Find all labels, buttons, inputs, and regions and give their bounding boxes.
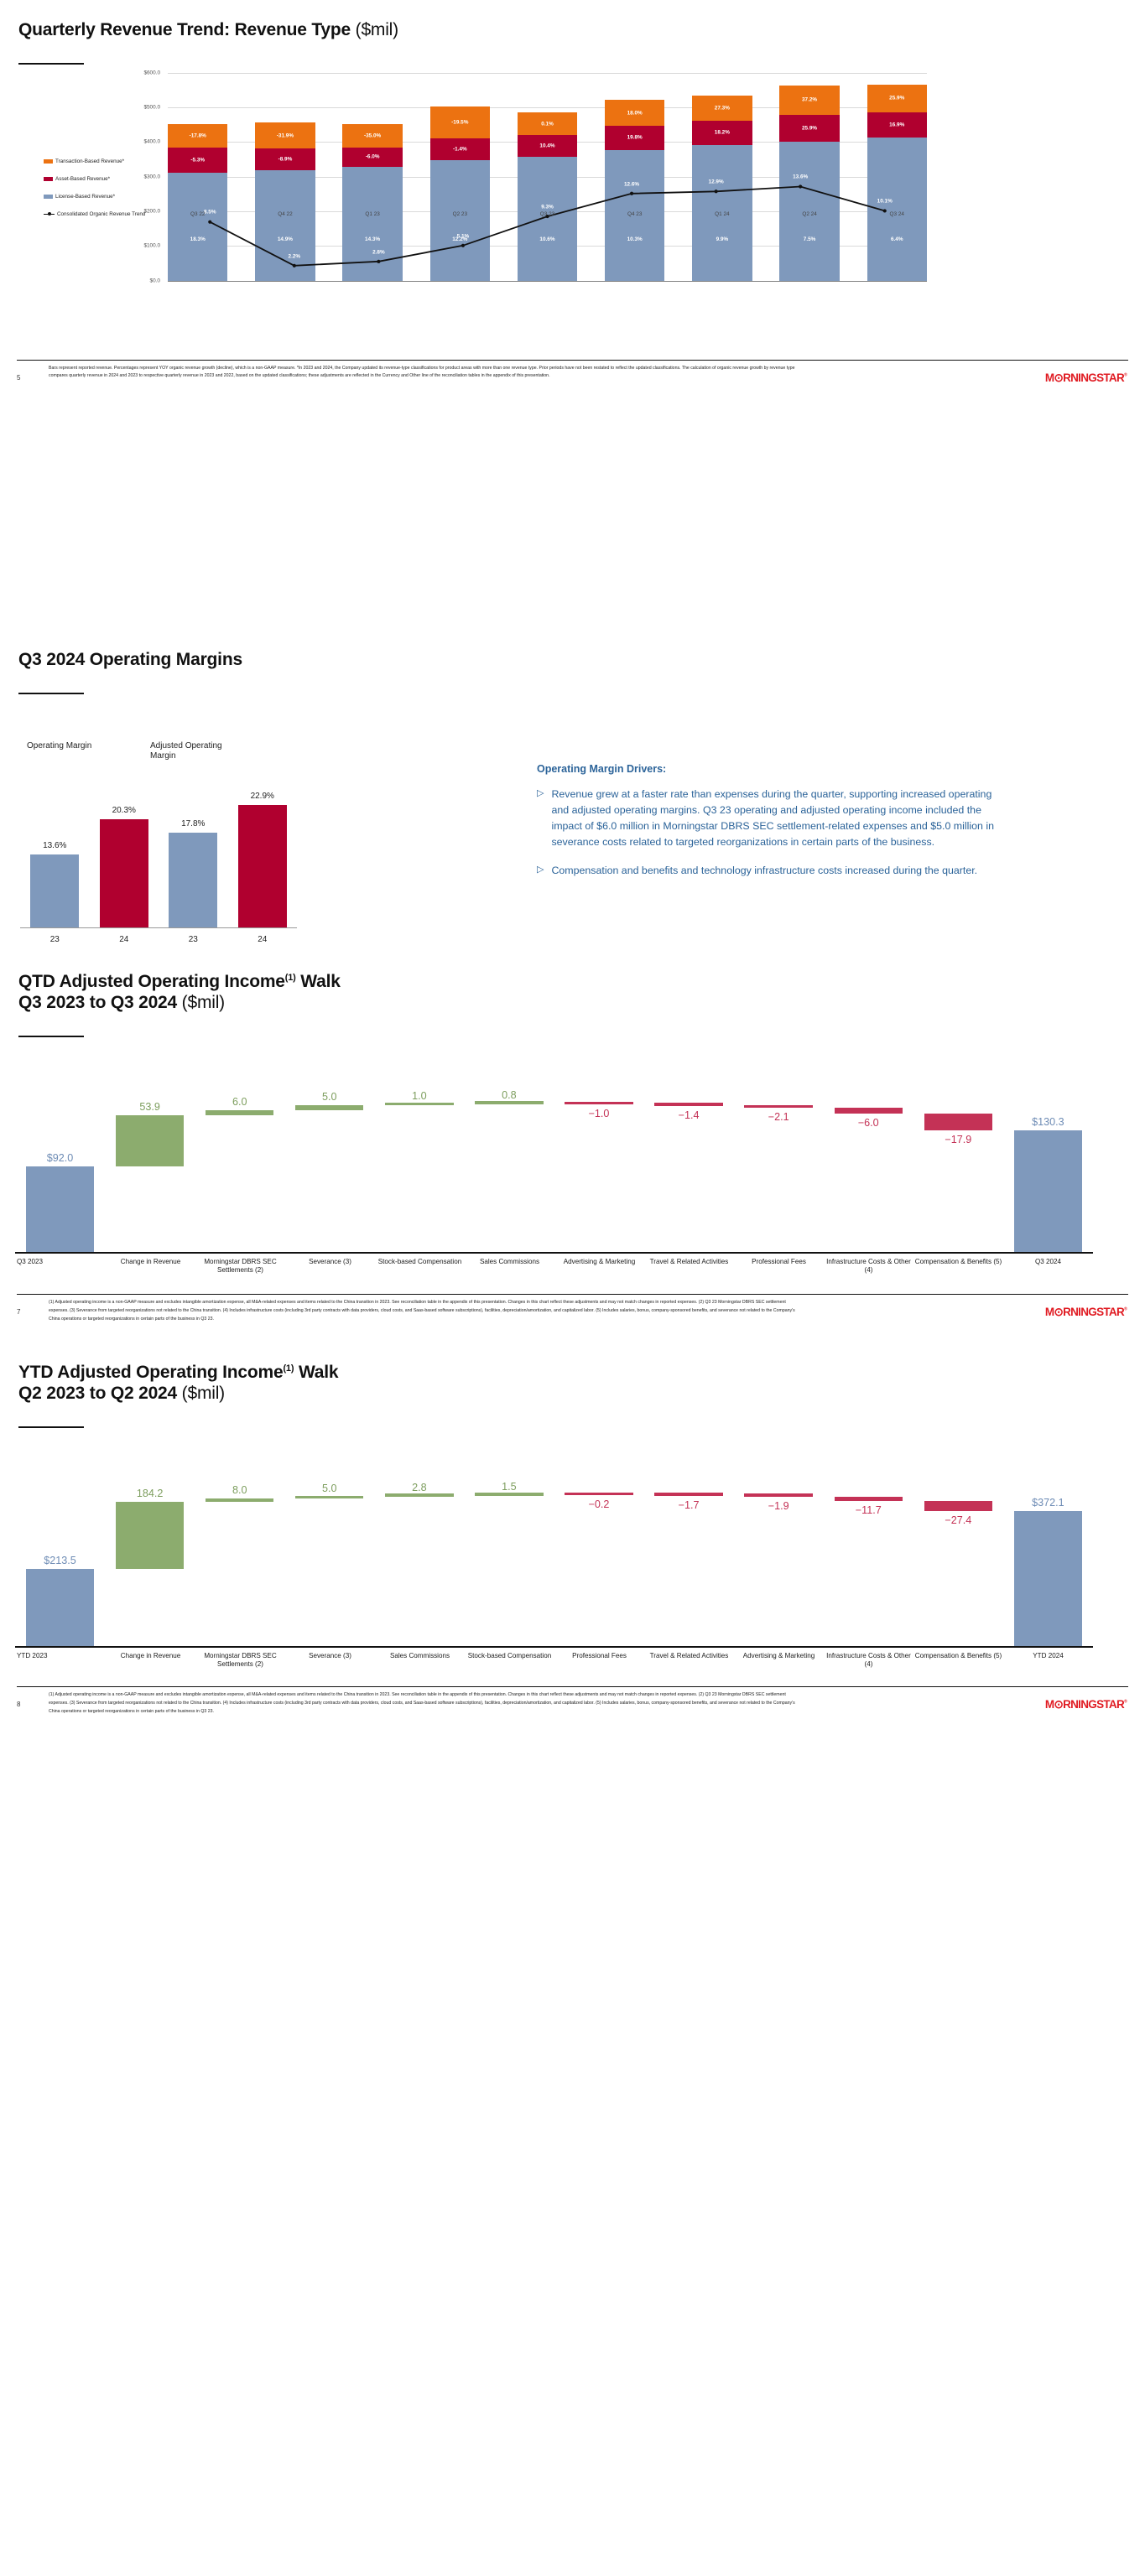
page-title-line1: YTD Adjusted Operating Income — [18, 1363, 283, 1382]
x-tick-label: Professional Fees — [554, 1652, 644, 1670]
waterfall-column: −6.0 — [824, 1059, 913, 1254]
waterfall-bar-value: $372.1 — [987, 1497, 1110, 1509]
x-tick-label: Infrastructure Costs & Other (4) — [824, 1258, 913, 1276]
chart-baseline — [15, 1646, 1093, 1647]
slide-footer: 7 (1) Adjusted operating income is a non… — [17, 1294, 1128, 1334]
margin-bars: 13.6%20.3%17.8%22.9% — [20, 789, 297, 927]
waterfall-bar-value: 1.5 — [448, 1481, 570, 1493]
waterfall-bar-value: −27.4 — [898, 1514, 1020, 1526]
waterfall-bar-value: $92.0 — [0, 1152, 121, 1164]
waterfall-bar — [475, 1493, 543, 1496]
waterfall-column: −2.1 — [734, 1059, 824, 1254]
waterfall-bar — [654, 1493, 722, 1496]
page-title-line1: QTD Adjusted Operating Income — [18, 972, 285, 991]
group-label-operating-margin: Operating Margin — [27, 741, 144, 752]
driver-text: Revenue grew at a faster rate than expen… — [551, 787, 1007, 851]
waterfall-column: 1.0 — [374, 1059, 464, 1254]
x-tick-label: Travel & Related Activities — [644, 1652, 734, 1670]
waterfall-bar — [1014, 1130, 1082, 1254]
x-axis-labels: YTD 2023Change in RevenueMorningstar DBR… — [15, 1652, 1093, 1670]
page-title-bold: Quarterly Revenue Trend: Revenue Type — [18, 20, 351, 39]
x-tick-label: Change in Revenue — [106, 1258, 195, 1276]
waterfall-bar — [385, 1103, 453, 1106]
waterfall-column: −11.7 — [824, 1450, 913, 1648]
driver-bullet: ▷ Revenue grew at a faster rate than exp… — [537, 787, 1007, 851]
waterfall-bar — [924, 1114, 992, 1130]
slide-footer: 5 Bars represent reported revenue. Perce… — [17, 360, 1128, 400]
margin-bar: 22.9% — [238, 805, 287, 927]
waterfall-bar — [116, 1115, 184, 1166]
margin-bar-value: 17.8% — [169, 819, 217, 828]
y-tick: $600.0 — [143, 70, 160, 75]
x-axis-labels: 23242324 — [20, 935, 297, 944]
waterfall-bar — [26, 1166, 94, 1253]
x-tick-label: 23 — [159, 935, 228, 944]
x-axis-labels: Q3 22Q4 22Q1 23Q2 23Q3 23Q4 23Q1 24Q2 24… — [168, 211, 927, 217]
trend-point-label: 13.6% — [793, 174, 808, 180]
slide-footer: 8 (1) Adjusted operating income is a non… — [17, 1686, 1128, 1727]
trend-point — [715, 190, 718, 193]
legend-swatch-license — [44, 195, 53, 199]
x-tick-label: Q2 23 — [430, 211, 490, 217]
waterfall-bar — [295, 1496, 363, 1499]
waterfall-bar — [295, 1105, 363, 1110]
footnote-text: (1) Adjusted operating income is a non-G… — [49, 1299, 804, 1323]
waterfall-bar — [835, 1497, 903, 1501]
x-tick-label: Morningstar DBRS SEC Settlements (2) — [195, 1258, 285, 1276]
page-number: 5 — [17, 374, 20, 382]
slide-quarterly-revenue-trend: Quarterly Revenue Trend: Revenue Type ($… — [0, 0, 1145, 635]
driver-text: Compensation and benefits and technology… — [551, 863, 977, 879]
x-tick-label: Infrastructure Costs & Other (4) — [824, 1652, 913, 1670]
waterfall-column: −1.4 — [644, 1059, 734, 1254]
title-rule — [18, 63, 84, 65]
chart-baseline — [20, 927, 297, 928]
waterfall-column: −1.0 — [554, 1059, 643, 1254]
trend-polyline — [210, 186, 884, 265]
margin-bar-value: 22.9% — [238, 792, 287, 801]
axis-baseline — [168, 281, 927, 282]
plot-area: $600.0 $500.0 $400.0 $300.0 $200.0 $100.… — [168, 73, 927, 281]
x-tick-label: Q4 22 — [255, 211, 315, 217]
page-title-line2-light: ($mil) — [182, 1384, 225, 1403]
waterfall-bar — [835, 1108, 903, 1114]
page-title-superscript: (1) — [285, 973, 296, 983]
waterfall-bar — [744, 1493, 812, 1497]
page-title-line1-end: Walk — [294, 1363, 338, 1382]
operating-margin-chart: Operating Margin Adjusted Operating Marg… — [20, 745, 297, 946]
trend-point-label: 12.9% — [709, 179, 724, 185]
page-number: 7 — [17, 1308, 20, 1316]
margin-bar-slot: 20.3% — [90, 789, 159, 927]
waterfall-bar — [744, 1105, 812, 1109]
trend-point — [461, 243, 465, 247]
page-title: Q3 2024 Operating Margins — [0, 650, 1145, 671]
waterfall-bar-value: 0.8 — [448, 1089, 570, 1101]
x-tick-label: Sales Commissions — [375, 1652, 465, 1670]
operating-margin-drivers: Operating Margin Drivers: ▷ Revenue grew… — [537, 763, 1007, 891]
x-axis-labels: Q3 2023Change in RevenueMorningstar DBRS… — [15, 1258, 1093, 1276]
triangle-bullet-icon: ▷ — [537, 787, 544, 851]
margin-bar-slot: 17.8% — [159, 789, 228, 927]
operating-margins-body: Operating Margin Adjusted Operating Marg… — [0, 713, 1145, 964]
waterfall-bar — [26, 1569, 94, 1647]
margin-bar-value: 13.6% — [30, 841, 79, 850]
y-tick: $500.0 — [143, 105, 160, 111]
waterfall-column: 1.5 — [464, 1450, 554, 1648]
waterfall-column: $213.5 — [15, 1450, 105, 1648]
x-tick-label: Q1 24 — [692, 211, 752, 217]
x-tick-label: Compensation & Benefits (5) — [913, 1258, 1003, 1276]
waterfall-column: −1.7 — [644, 1450, 734, 1648]
x-tick-label: 24 — [90, 935, 159, 944]
x-tick-label: 23 — [20, 935, 90, 944]
page-title-line2: Q3 2023 to Q3 2024 — [18, 993, 177, 1012]
title-rule — [18, 1036, 84, 1037]
page-title-bold: Q3 2024 Operating Margins — [18, 650, 242, 669]
group-label-adjusted-operating-margin: Adjusted Operating Margin — [150, 741, 231, 762]
waterfall-bar — [654, 1103, 722, 1106]
qtd-waterfall-chart: $92.053.96.05.01.00.8−1.0−1.4−2.1−6.0−17… — [0, 1059, 1145, 1276]
trend-point-label: 2.2% — [289, 253, 301, 259]
waterfall-bar — [565, 1493, 632, 1496]
waterfall-column: −17.9 — [913, 1059, 1003, 1254]
waterfall-column: −1.9 — [734, 1450, 824, 1648]
waterfall-bar-value: −17.9 — [898, 1134, 1020, 1145]
chart-baseline — [15, 1252, 1093, 1253]
ytd-waterfall-chart: $213.5184.28.05.02.81.5−0.2−1.7−1.9−11.7… — [0, 1450, 1145, 1670]
x-tick-label: Morningstar DBRS SEC Settlements (2) — [195, 1652, 285, 1670]
x-tick-label: Severance (3) — [285, 1652, 375, 1670]
page-title-superscript: (1) — [283, 1363, 294, 1374]
slide-operating-margins: Q3 2024 Operating Margins Operating Marg… — [0, 635, 1145, 955]
footnote-text: Bars represent reported revenue. Percent… — [49, 365, 804, 381]
waterfall-bar — [116, 1502, 184, 1570]
x-tick-label: Advertising & Marketing — [734, 1652, 824, 1670]
x-tick-label: Q3 24 — [867, 211, 927, 217]
page-title-line2: Q2 2023 to Q2 2024 — [18, 1384, 177, 1403]
footnote-text: (1) Adjusted operating income is a non-G… — [49, 1691, 804, 1716]
y-tick: $0.0 — [150, 278, 160, 283]
y-tick: $400.0 — [143, 139, 160, 145]
waterfall-column: 2.8 — [374, 1450, 464, 1648]
waterfall-column: $372.1 — [1003, 1450, 1093, 1648]
y-axis: $600.0 $500.0 $400.0 $300.0 $200.0 $100.… — [130, 73, 165, 281]
legend-label-license: License-Based Revenue* — [55, 194, 115, 200]
y-tick: $300.0 — [143, 174, 160, 179]
x-tick-label: Change in Revenue — [106, 1652, 195, 1670]
waterfall-column: −27.4 — [913, 1450, 1003, 1648]
x-tick-label: Travel & Related Activities — [644, 1258, 734, 1276]
morningstar-logo: M⊙RNINGSTAR® — [1045, 371, 1127, 384]
margin-bar: 13.6% — [30, 854, 79, 927]
trend-point — [293, 263, 296, 267]
waterfall-column: 5.0 — [284, 1059, 374, 1254]
waterfall-bar — [385, 1493, 453, 1497]
trend-point — [630, 191, 633, 195]
x-tick-label: Q3 22 — [168, 211, 227, 217]
x-tick-label: 24 — [228, 935, 298, 944]
x-tick-label: Q3 2024 — [1003, 1258, 1093, 1276]
waterfall-column: −0.2 — [554, 1450, 643, 1648]
trend-point-label: 5.1% — [457, 233, 470, 239]
x-tick-label: Sales Commissions — [465, 1258, 554, 1276]
x-tick-label: Stock-based Compensation — [375, 1258, 465, 1276]
waterfall-plot: $92.053.96.05.01.00.8−1.0−1.4−2.1−6.0−17… — [15, 1059, 1093, 1254]
waterfall-bar-value: $130.3 — [987, 1116, 1110, 1128]
x-tick-label: Stock-based Compensation — [465, 1652, 554, 1670]
page-title-light: ($mil) — [356, 20, 398, 39]
page-number: 8 — [17, 1701, 20, 1708]
waterfall-columns: $92.053.96.05.01.00.8−1.0−1.4−2.1−6.0−17… — [15, 1059, 1093, 1254]
legend-label-transaction: Transaction-Based Revenue* — [55, 158, 124, 164]
waterfall-columns: $213.5184.28.05.02.81.5−0.2−1.7−1.9−11.7… — [15, 1450, 1093, 1648]
trend-point-label: 12.6% — [624, 181, 639, 187]
legend-swatch-transaction — [44, 159, 53, 164]
x-tick-label: Q4 23 — [605, 211, 664, 217]
trend-point — [377, 260, 380, 263]
title-rule — [18, 1426, 84, 1428]
y-tick: $100.0 — [143, 243, 160, 249]
revenue-trend-chart: Transaction-Based Revenue* Asset-Based R… — [0, 73, 1145, 325]
slide-qtd-operating-income-walk: QTD Adjusted Operating Income(1) Walk Q3… — [0, 955, 1145, 1346]
triangle-bullet-icon: ▷ — [537, 863, 544, 879]
x-tick-label: YTD 2023 — [15, 1652, 106, 1670]
x-tick-label: Q3 2023 — [15, 1258, 106, 1276]
waterfall-bar — [206, 1498, 273, 1502]
waterfall-plot: $213.5184.28.05.02.81.5−0.2−1.7−1.9−11.7… — [15, 1450, 1093, 1648]
waterfall-bar — [206, 1110, 273, 1116]
waterfall-bar — [565, 1102, 632, 1105]
trend-point-label: 9.3% — [541, 204, 554, 210]
morningstar-logo: M⊙RNINGSTAR® — [1045, 1305, 1127, 1318]
organic-revenue-trend-line — [168, 73, 927, 281]
waterfall-column: 0.8 — [464, 1059, 554, 1254]
waterfall-column: 5.0 — [284, 1450, 374, 1648]
page-title: YTD Adjusted Operating Income(1) Walk Q2… — [0, 1363, 1145, 1405]
drivers-heading: Operating Margin Drivers: — [537, 763, 1007, 775]
legend-swatch-asset — [44, 177, 53, 181]
morningstar-logo: M⊙RNINGSTAR® — [1045, 1697, 1127, 1711]
x-tick-label: Q2 24 — [779, 211, 839, 217]
x-tick-label: Q3 23 — [518, 211, 577, 217]
legend-swatch-line — [44, 211, 55, 217]
waterfall-bar-value: $213.5 — [0, 1555, 121, 1566]
trend-point — [799, 184, 802, 188]
margin-bar-value: 20.3% — [100, 806, 148, 815]
x-tick-label: Q1 23 — [342, 211, 402, 217]
waterfall-bar — [924, 1501, 992, 1511]
waterfall-bar — [1014, 1511, 1082, 1648]
page-title: QTD Adjusted Operating Income(1) Walk Q3… — [0, 972, 1145, 1014]
waterfall-column: 184.2 — [105, 1450, 195, 1648]
trend-point — [208, 220, 211, 223]
margin-bar-slot: 22.9% — [228, 789, 298, 927]
waterfall-bar — [475, 1101, 543, 1104]
page-title: Quarterly Revenue Trend: Revenue Type ($… — [0, 20, 1145, 41]
margin-bar-slot: 13.6% — [20, 789, 90, 927]
waterfall-bar-value: −6.0 — [807, 1117, 929, 1129]
driver-bullet: ▷ Compensation and benefits and technolo… — [537, 863, 1007, 879]
page-title-line2-light: ($mil) — [182, 993, 225, 1012]
x-tick-label: Severance (3) — [285, 1258, 375, 1276]
waterfall-column: 53.9 — [105, 1059, 195, 1254]
y-tick: $200.0 — [143, 209, 160, 215]
x-tick-label: YTD 2024 — [1003, 1652, 1093, 1670]
page-title-line1-end: Walk — [296, 972, 341, 991]
waterfall-column: 8.0 — [195, 1450, 284, 1648]
trend-point-label: 2.8% — [372, 249, 385, 255]
margin-bar: 20.3% — [100, 819, 148, 927]
waterfall-column: $92.0 — [15, 1059, 105, 1254]
x-tick-label: Professional Fees — [734, 1258, 824, 1276]
margin-bar: 17.8% — [169, 833, 217, 927]
x-tick-label: Compensation & Benefits (5) — [913, 1652, 1003, 1670]
x-tick-label: Advertising & Marketing — [554, 1258, 644, 1276]
waterfall-column: 6.0 — [195, 1059, 284, 1254]
trend-point-label: 10.1% — [877, 199, 893, 205]
waterfall-column: $130.3 — [1003, 1059, 1093, 1254]
legend-label-asset: Asset-Based Revenue* — [55, 176, 110, 182]
title-rule — [18, 693, 84, 694]
slide-ytd-operating-income-walk: YTD Adjusted Operating Income(1) Walk Q2… — [0, 1346, 1145, 1737]
